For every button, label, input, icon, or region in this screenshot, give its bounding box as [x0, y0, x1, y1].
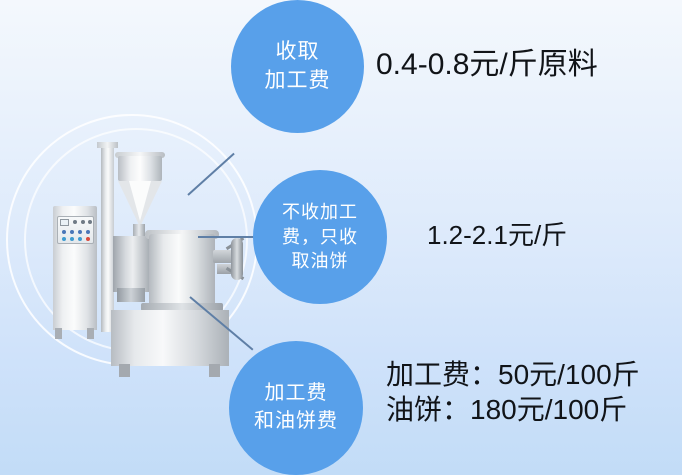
machine-press-housing: [113, 236, 149, 292]
machine-column-cap: [97, 142, 118, 148]
control-panel-button-5: [62, 237, 66, 241]
machine-base-cabinet: [111, 310, 229, 366]
control-panel-display: [60, 219, 69, 226]
bubble-top-line-2: 加工费: [265, 67, 331, 96]
infographic-canvas: 收取 加工费 不收加工 费，只收 取油饼 加工费 和油饼费 0.4-0.8元/斤…: [0, 0, 682, 475]
control-panel-stop-button: [86, 237, 90, 241]
control-panel-button-3: [78, 230, 82, 234]
machine-drum: [149, 234, 215, 306]
bubble-middle-line-3: 取油饼: [292, 249, 349, 274]
caption-top: 0.4-0.8元/斤原料: [376, 46, 598, 83]
machine-hopper-cylinder: [118, 156, 162, 181]
machine-base-foot-right: [209, 364, 220, 377]
bubble-middle-line-1: 不收加工: [282, 200, 358, 225]
control-panel-button-1: [62, 230, 66, 234]
bubble-middle-line-2: 费，只收: [282, 225, 358, 250]
bubble-top[interactable]: 收取 加工费: [231, 0, 364, 133]
machine-cabinet-foot-right: [87, 328, 94, 339]
bubble-bottom-line-2: 和油饼费: [254, 408, 338, 436]
bubble-middle[interactable]: 不收加工 费，只收 取油饼: [253, 170, 387, 304]
caption-middle: 1.2-2.1元/斤: [427, 219, 567, 251]
caption-middle-line-1: 1.2-2.1元/斤: [427, 219, 567, 251]
control-panel-button-2: [70, 230, 74, 234]
connector-line-middle: [198, 236, 256, 238]
machine-hopper-cone-highlight: [129, 181, 151, 221]
machine-control-panel: [57, 216, 94, 244]
bubble-bottom[interactable]: 加工费 和油饼费: [229, 341, 363, 475]
machine-press-housing-lower: [117, 288, 145, 302]
control-panel-button-4: [86, 230, 90, 234]
machine-flywheel: [231, 238, 243, 280]
caption-top-line-1: 0.4-0.8元/斤原料: [376, 46, 598, 83]
control-panel-indicator-1: [73, 220, 77, 224]
bubble-bottom-line-1: 加工费: [265, 380, 328, 408]
control-panel-indicator-3: [88, 220, 92, 224]
machine-base-foot-left: [119, 364, 130, 377]
control-panel-indicator-2: [81, 220, 85, 224]
control-panel-button-6: [70, 237, 74, 241]
caption-bottom: 加工费：50元/100斤 油饼：180元/100斤: [386, 358, 640, 427]
machine-cabinet-foot-left: [55, 328, 62, 339]
caption-bottom-line-2: 油饼：180元/100斤: [386, 393, 640, 428]
control-panel-button-7: [78, 237, 82, 241]
bubble-top-line-1: 收取: [276, 38, 320, 67]
caption-bottom-line-1: 加工费：50元/100斤: [386, 358, 640, 393]
